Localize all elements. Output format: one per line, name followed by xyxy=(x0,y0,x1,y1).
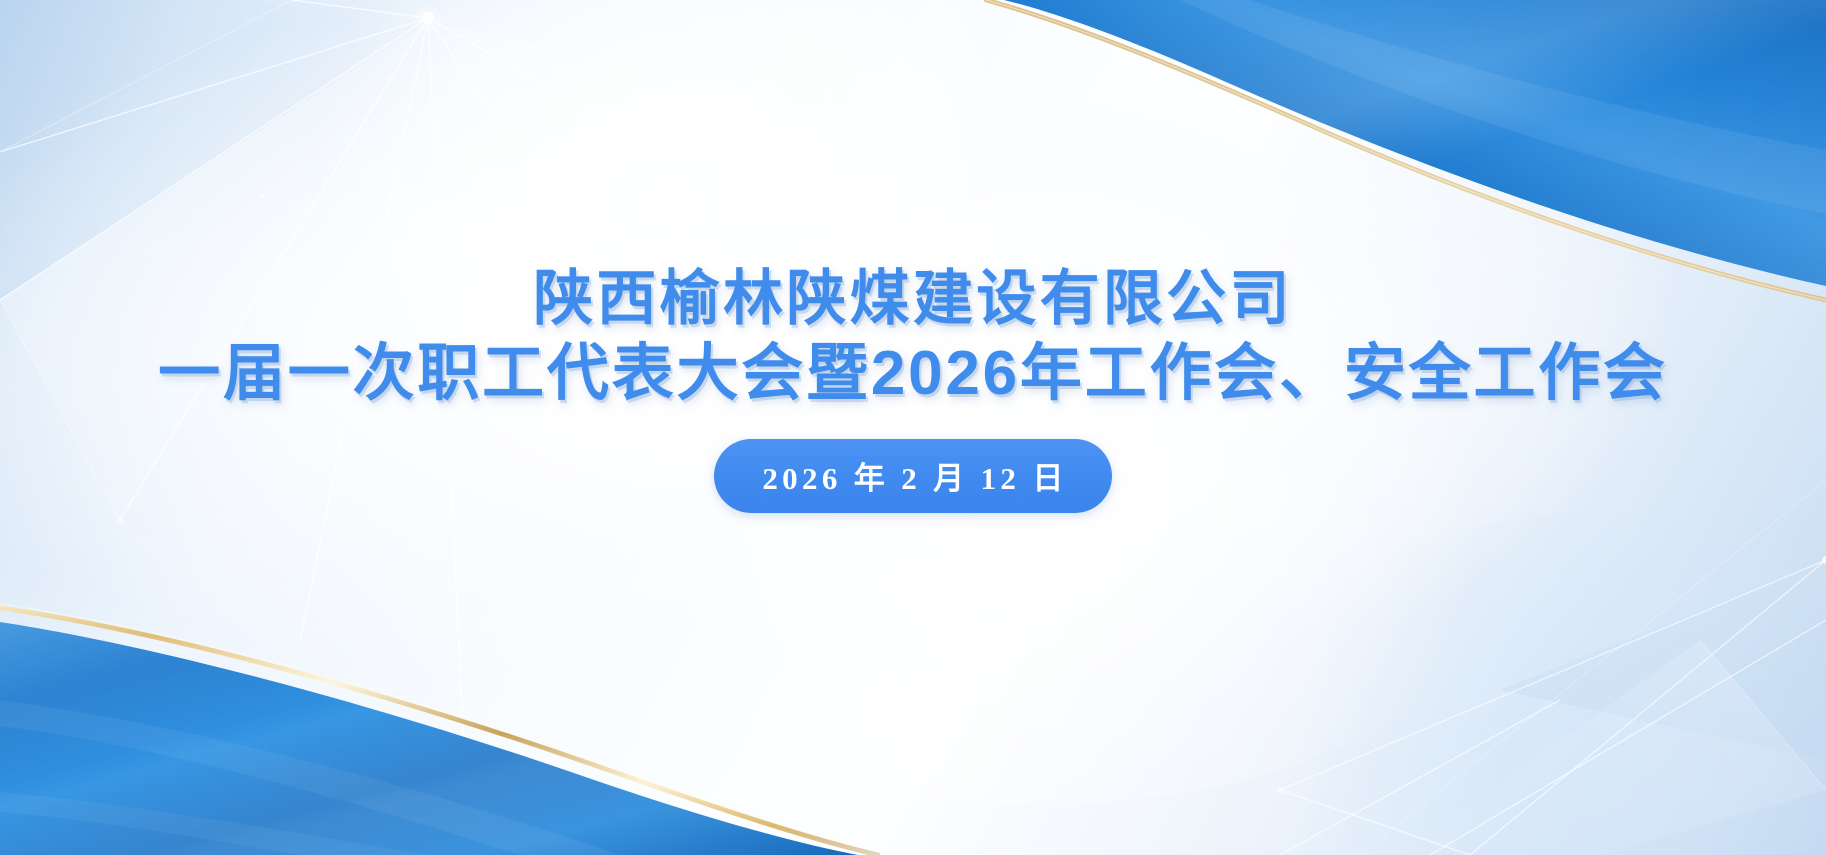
page-title-line-2: 一届一次职工代表大会暨2026年工作会、安全工作会 xyxy=(0,335,1826,413)
page-title-line-1: 陕西榆林陕煤建设有限公司 xyxy=(0,262,1826,335)
banner-content: 陕西榆林陕煤建设有限公司 一届一次职工代表大会暨2026年工作会、安全工作会 2… xyxy=(0,262,1826,513)
conference-banner: 陕西榆林陕煤建设有限公司 一届一次职工代表大会暨2026年工作会、安全工作会 2… xyxy=(0,0,1826,855)
date-badge-wrapper: 2026 年 2 月 12 日 xyxy=(0,439,1826,513)
event-date-badge: 2026 年 2 月 12 日 xyxy=(714,439,1111,513)
